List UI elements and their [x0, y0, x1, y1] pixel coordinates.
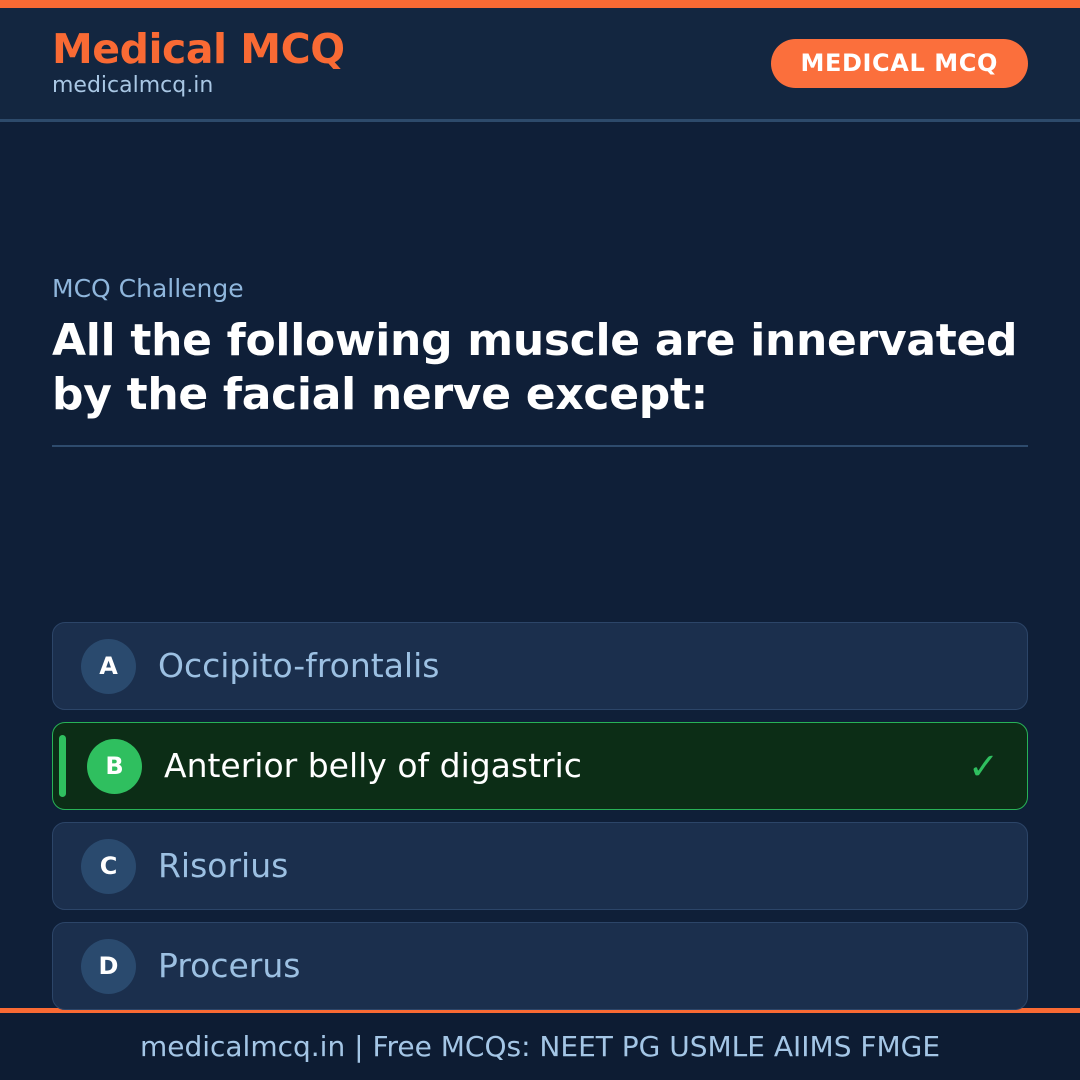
footer-bar: medicalmcq.in | Free MCQs: NEET PG USMLE…	[0, 1008, 1080, 1080]
question-text: All the following muscle are innervated …	[52, 314, 1028, 421]
option-letter-badge: A	[81, 639, 136, 694]
option-letter-badge: D	[81, 939, 136, 994]
brand-badge: MEDICAL MCQ	[771, 39, 1028, 88]
footer-text: medicalmcq.in | Free MCQs: NEET PG USMLE…	[140, 1033, 940, 1061]
question-block: MCQ Challenge All the following muscle a…	[52, 274, 1028, 447]
option-row-a[interactable]: A Occipito-frontalis	[52, 622, 1028, 710]
option-letter-badge: C	[81, 839, 136, 894]
eyebrow-label: MCQ Challenge	[52, 274, 1028, 304]
top-accent-bar	[0, 0, 1080, 8]
brand-title: Medical MCQ	[52, 28, 345, 71]
mcq-card: Medical MCQ medicalmcq.in MEDICAL MCQ MC…	[0, 0, 1080, 1080]
check-icon: ✓	[968, 748, 999, 785]
option-letter-badge: B	[87, 739, 142, 794]
main-content: MCQ Challenge All the following muscle a…	[0, 122, 1080, 1008]
option-label: Anterior belly of digastric	[164, 746, 582, 786]
correct-accent-bar	[59, 735, 66, 797]
option-label: Risorius	[158, 846, 288, 886]
option-row-b[interactable]: B Anterior belly of digastric ✓	[52, 722, 1028, 810]
header-bar: Medical MCQ medicalmcq.in MEDICAL MCQ	[0, 8, 1080, 122]
options-list: A Occipito-frontalis B Anterior belly of…	[52, 622, 1028, 1010]
option-label: Occipito-frontalis	[158, 646, 439, 686]
option-label: Procerus	[158, 946, 300, 986]
option-row-d[interactable]: D Procerus	[52, 922, 1028, 1010]
brand-subtitle: medicalmcq.in	[52, 73, 345, 98]
question-divider	[52, 445, 1028, 447]
option-row-c[interactable]: C Risorius	[52, 822, 1028, 910]
brand-block: Medical MCQ medicalmcq.in	[52, 28, 345, 98]
